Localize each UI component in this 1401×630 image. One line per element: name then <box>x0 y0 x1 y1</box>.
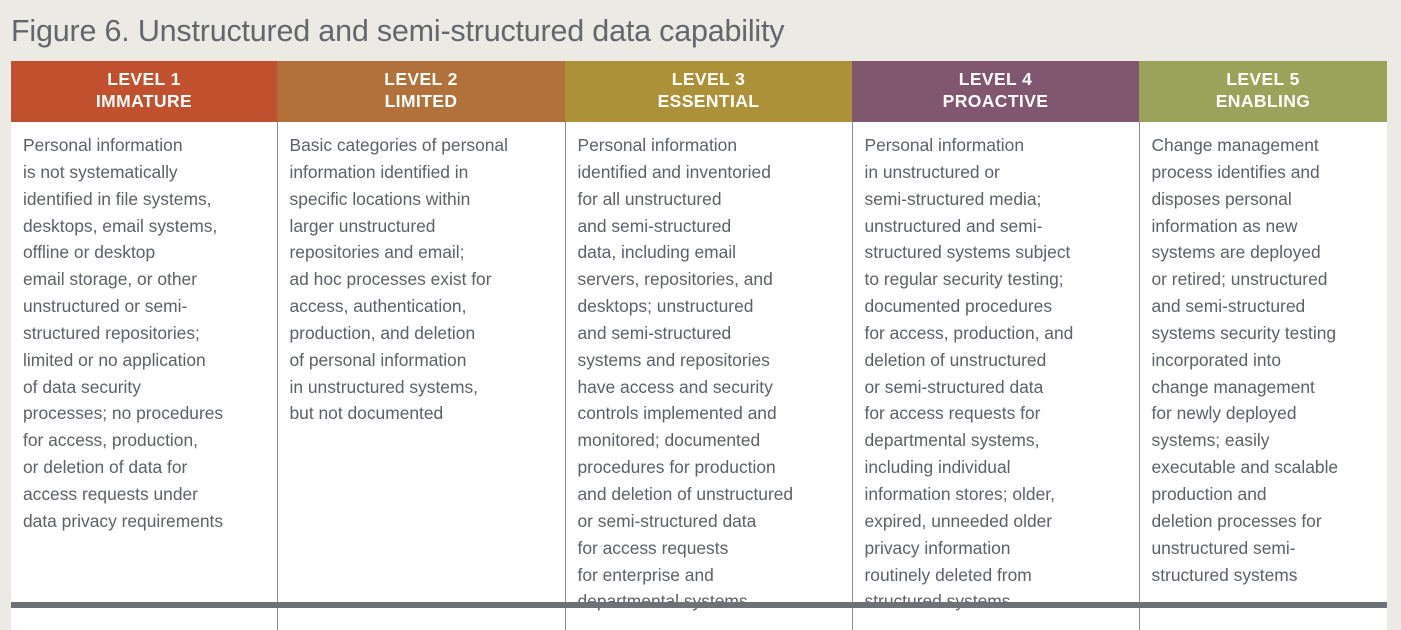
level-name-label: ESSENTIAL <box>569 90 848 112</box>
cell-level-4-description: Personal information in unstructured or … <box>852 122 1139 630</box>
cell-level-3-description: Personal information identified and inve… <box>565 122 852 630</box>
cell-level-2-description: Basic categories of personal information… <box>277 122 565 630</box>
level-name-label: ENABLING <box>1143 90 1383 112</box>
level-name-label: IMMATURE <box>15 90 273 112</box>
table-body-row: Personal information is not systematical… <box>11 122 1387 630</box>
cell-level-5-description: Change management process identifies and… <box>1139 122 1387 630</box>
level-number-label: LEVEL 4 <box>856 68 1135 90</box>
table-bottom-rule <box>11 602 1387 608</box>
level-number-label: LEVEL 1 <box>15 68 273 90</box>
figure-container: Figure 6. Unstructured and semi-structur… <box>0 0 1401 622</box>
column-header-level-4: LEVEL 4 PROACTIVE <box>852 61 1139 122</box>
table-header-row: LEVEL 1 IMMATURE LEVEL 2 LIMITED LEVEL 3… <box>11 61 1387 122</box>
figure-title: Figure 6. Unstructured and semi-structur… <box>11 13 784 49</box>
cell-level-1-description: Personal information is not systematical… <box>11 122 277 630</box>
maturity-model-table: LEVEL 1 IMMATURE LEVEL 2 LIMITED LEVEL 3… <box>11 61 1387 630</box>
column-header-level-3: LEVEL 3 ESSENTIAL <box>565 61 852 122</box>
column-header-level-5: LEVEL 5 ENABLING <box>1139 61 1387 122</box>
column-header-level-2: LEVEL 2 LIMITED <box>277 61 565 122</box>
level-name-label: PROACTIVE <box>856 90 1135 112</box>
level-number-label: LEVEL 3 <box>569 68 848 90</box>
level-number-label: LEVEL 5 <box>1143 68 1383 90</box>
column-header-level-1: LEVEL 1 IMMATURE <box>11 61 277 122</box>
level-name-label: LIMITED <box>281 90 561 112</box>
level-number-label: LEVEL 2 <box>281 68 561 90</box>
